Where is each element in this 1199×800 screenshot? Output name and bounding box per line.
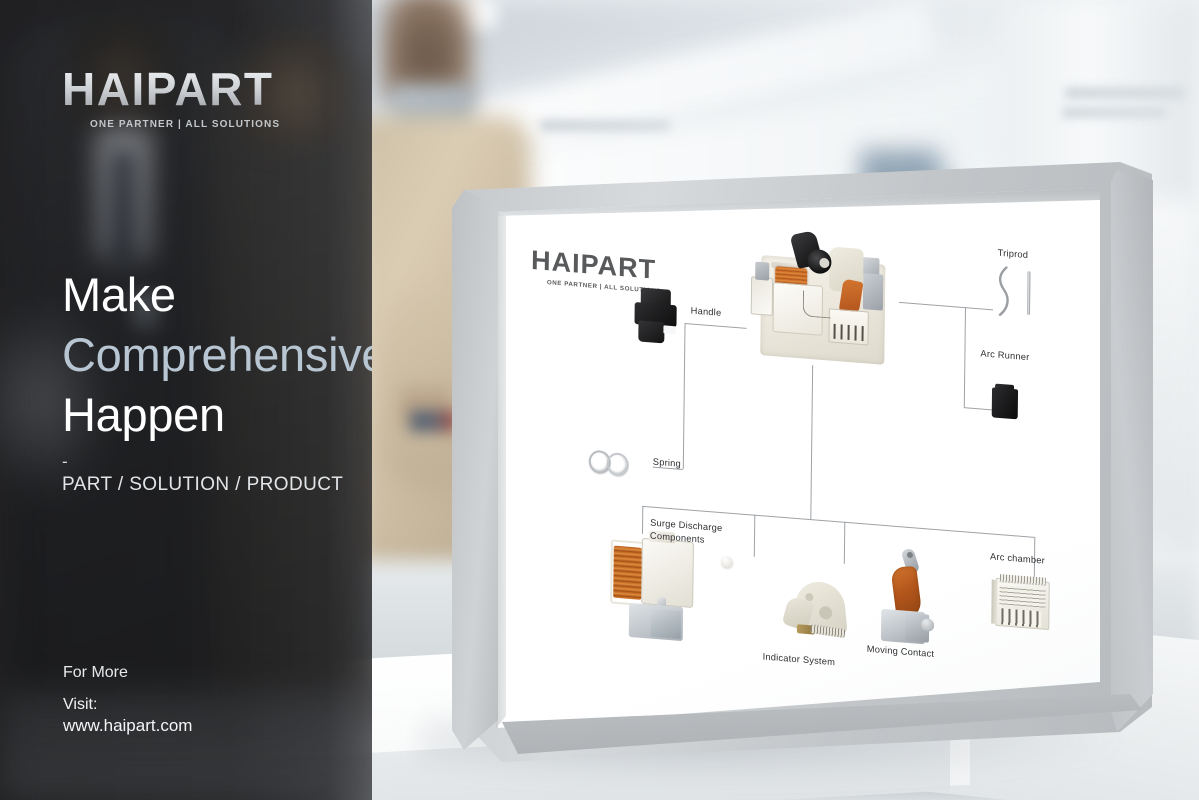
- part-arc-chamber: [991, 574, 1052, 635]
- connector-handle-vertical: [683, 323, 686, 469]
- background-booth-sign-1: [540, 120, 670, 131]
- exhibit-artwork-plane: HAIPART ONE PARTNER | ALL SOLUTIONS: [489, 186, 1102, 779]
- label-spring: Spring: [653, 457, 681, 469]
- part-spring: [589, 449, 645, 479]
- header-logo-wordmark: HAIPART: [62, 66, 280, 112]
- label-triprod: Triprod: [998, 248, 1029, 260]
- connector-indicator-drop: [754, 515, 756, 557]
- connector-handle-horizontal: [685, 323, 747, 329]
- header-logo[interactable]: HAIPART ONE PARTNER | ALL SOLUTIONS: [62, 66, 280, 130]
- headline-subtitle: PART / SOLUTION / PRODUCT: [62, 474, 372, 496]
- part-arc-runner: [992, 383, 1018, 419]
- headline-line-3: Happen: [62, 385, 372, 445]
- part-indicator-system: [785, 579, 848, 648]
- footer-block: For More Visit: www.haipart.com: [63, 664, 192, 736]
- part-small-bead: [722, 556, 733, 568]
- label-arc-runner: Arc Runner: [980, 348, 1029, 362]
- headline-line-2: Comprehensive: [62, 325, 372, 385]
- part-surge-discharge-components: [613, 536, 710, 652]
- connector-triprod-horizontal: [899, 302, 993, 310]
- headline-block: Make Comprehensive Happen - PART / SOLUT…: [62, 265, 372, 496]
- label-handle: Handle: [691, 305, 722, 317]
- headline-line-1: Make: [62, 265, 372, 325]
- header-logo-tagline: ONE PARTNER | ALL SOLUTIONS: [90, 119, 280, 130]
- part-main-breaker-assembly: [746, 228, 898, 372]
- connector-surge-drop: [642, 506, 643, 534]
- footer-for-more-label: For More: [63, 664, 192, 682]
- background-booth-sign-2: [1065, 88, 1185, 98]
- part-handle: [634, 287, 677, 344]
- label-indicator-system: Indicator System: [763, 651, 836, 667]
- connector-moving-contact-drop: [844, 522, 846, 564]
- connector-main-trunk-vertical: [810, 365, 813, 519]
- part-triprod: [993, 265, 1046, 319]
- exhibit-frame[interactable]: HAIPART ONE PARTNER | ALL SOLUTIONS: [452, 162, 1152, 762]
- footer-website-url[interactable]: www.haipart.com: [63, 716, 192, 736]
- connector-arcrunner-horizontal: [964, 407, 992, 410]
- headline-divider-dash: -: [62, 453, 372, 470]
- left-text-panel: HAIPART ONE PARTNER | ALL SOLUTIONS Make…: [0, 0, 372, 800]
- footer-visit-label: Visit:: [63, 693, 192, 716]
- label-arc-chamber: Arc chamber: [990, 551, 1045, 565]
- connector-arcrunner-vertical: [964, 307, 966, 407]
- part-moving-contact: [877, 546, 940, 659]
- background-booth-sign-3: [1062, 108, 1167, 117]
